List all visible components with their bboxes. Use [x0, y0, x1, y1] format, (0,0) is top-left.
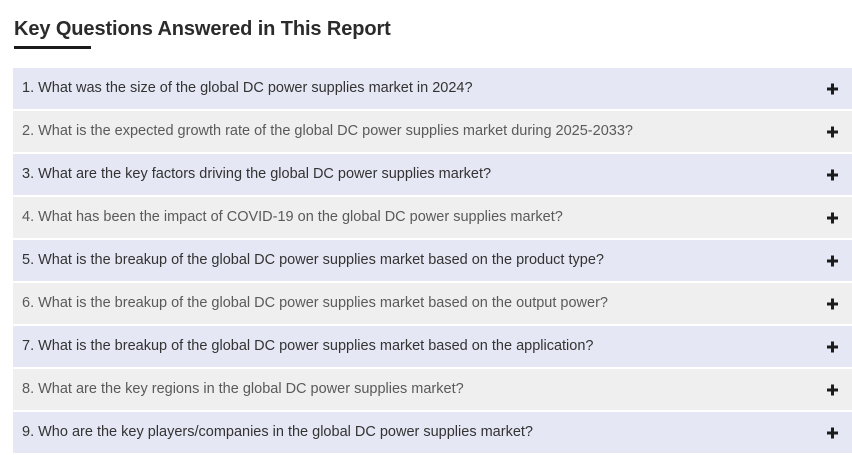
faq-question-label: 1. What was the size of the global DC po…	[22, 79, 473, 98]
page-title: Key Questions Answered in This Report	[14, 16, 614, 42]
faq-question-label: 7. What is the breakup of the global DC …	[22, 337, 593, 356]
faq-item-5[interactable]: 5. What is the breakup of the global DC …	[13, 240, 852, 281]
plus-icon[interactable]	[827, 427, 838, 438]
faq-item-4[interactable]: 4. What has been the impact of COVID-19 …	[13, 197, 852, 238]
faq-accordion-list: 1. What was the size of the global DC po…	[13, 68, 852, 455]
plus-icon[interactable]	[827, 83, 838, 94]
faq-question-label: 2. What is the expected growth rate of t…	[22, 122, 633, 141]
title-underline	[14, 46, 91, 49]
faq-question-label: 9. Who are the key players/companies in …	[22, 423, 533, 442]
plus-icon[interactable]	[827, 255, 838, 266]
plus-icon[interactable]	[827, 298, 838, 309]
plus-icon[interactable]	[827, 126, 838, 137]
title-block: Key Questions Answered in This Report	[14, 16, 614, 42]
faq-question-label: 4. What has been the impact of COVID-19 …	[22, 208, 563, 227]
faq-item-2[interactable]: 2. What is the expected growth rate of t…	[13, 111, 852, 152]
faq-question-label: 6. What is the breakup of the global DC …	[22, 294, 608, 313]
plus-icon[interactable]	[827, 384, 838, 395]
plus-icon[interactable]	[827, 341, 838, 352]
faq-question-label: 8. What are the key regions in the globa…	[22, 380, 464, 399]
faq-item-1[interactable]: 1. What was the size of the global DC po…	[13, 68, 852, 109]
faq-item-3[interactable]: 3. What are the key factors driving the …	[13, 154, 852, 195]
faq-item-6[interactable]: 6. What is the breakup of the global DC …	[13, 283, 852, 324]
faq-item-7[interactable]: 7. What is the breakup of the global DC …	[13, 326, 852, 367]
faq-question-label: 3. What are the key factors driving the …	[22, 165, 491, 184]
report-faq-page: Key Questions Answered in This Report 1.…	[0, 0, 852, 455]
plus-icon[interactable]	[827, 169, 838, 180]
faq-question-label: 5. What is the breakup of the global DC …	[22, 251, 604, 270]
faq-item-9[interactable]: 9. Who are the key players/companies in …	[13, 412, 852, 453]
plus-icon[interactable]	[827, 212, 838, 223]
faq-item-8[interactable]: 8. What are the key regions in the globa…	[13, 369, 852, 410]
